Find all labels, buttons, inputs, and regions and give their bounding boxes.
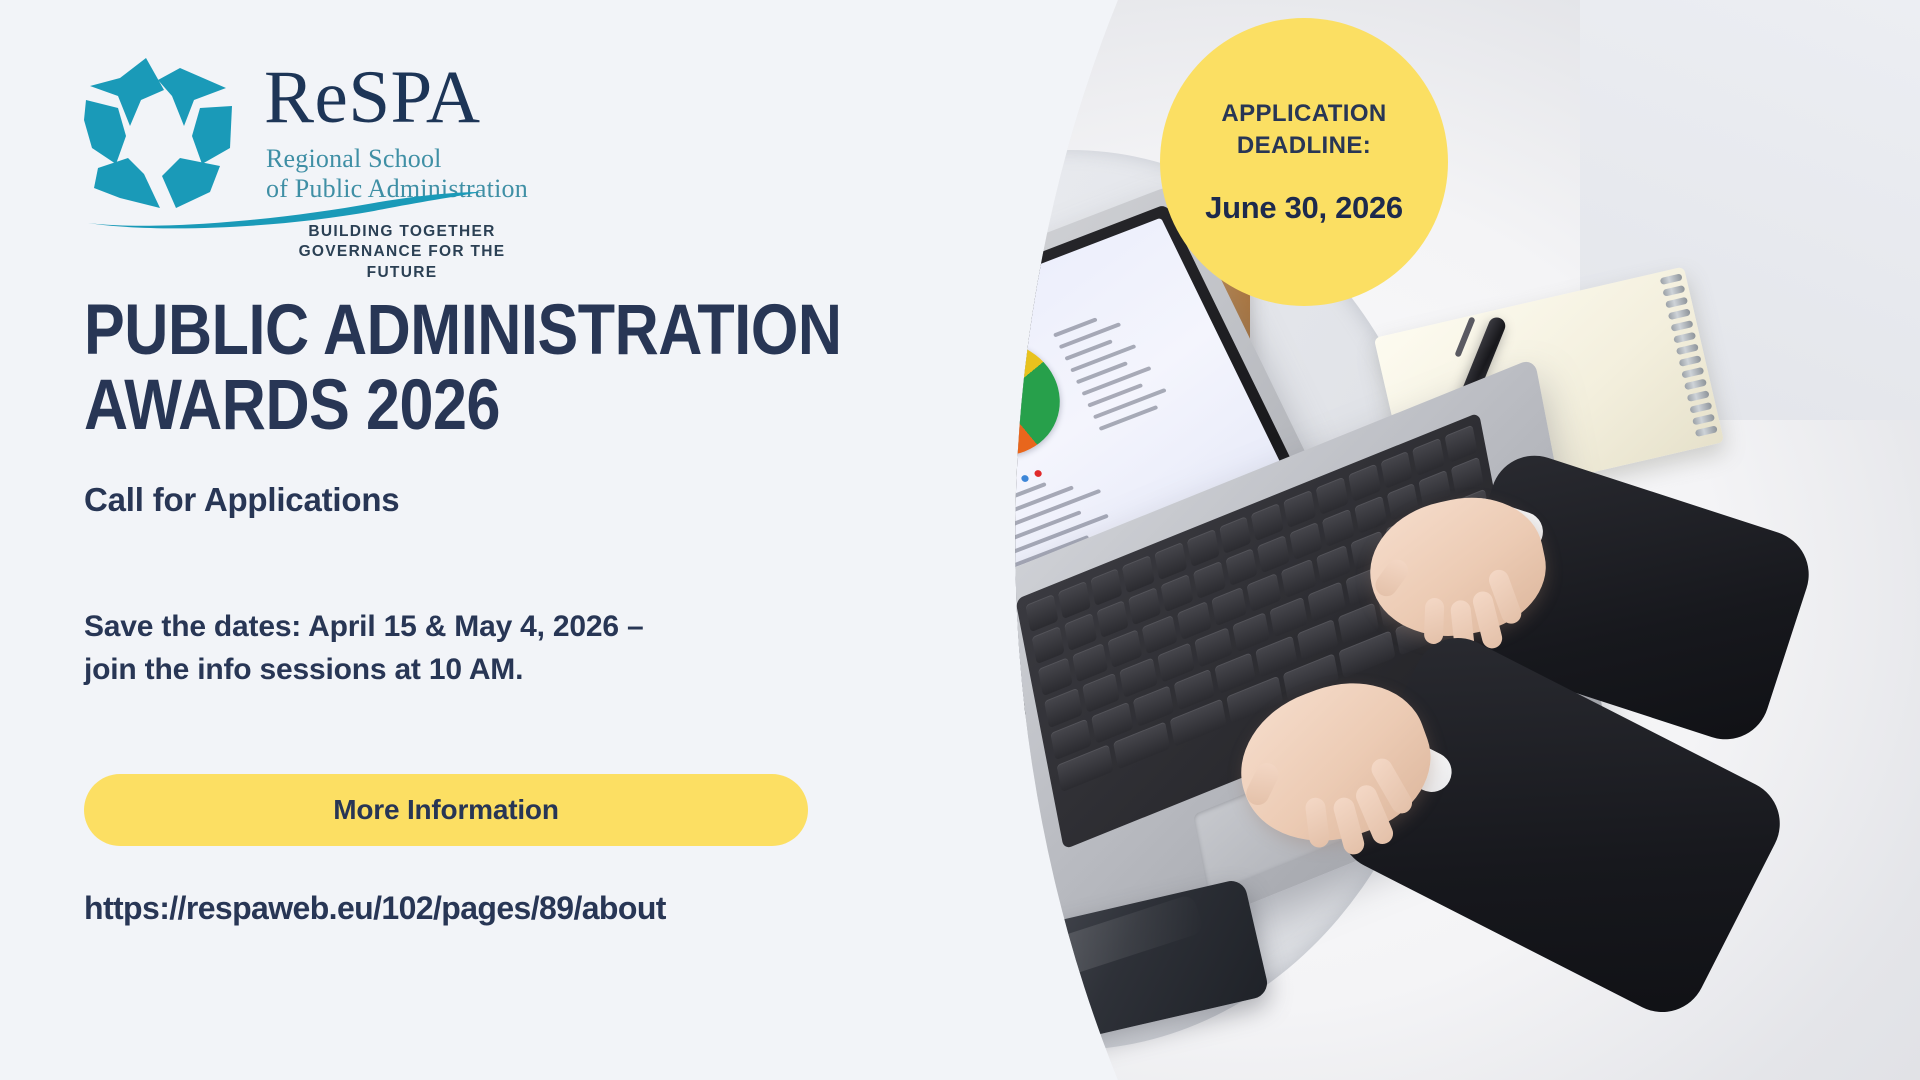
info-session-text: Save the dates: April 15 & May 4, 2026 –… [84, 605, 1160, 693]
finger [1242, 759, 1282, 809]
finger [1424, 598, 1445, 645]
deadline-date: June 30, 2026 [1205, 190, 1403, 226]
logo-wordmark: ReSPA [264, 60, 481, 135]
finger [1371, 555, 1412, 600]
content-column: ReSPA Regional School of Public Administ… [0, 0, 1160, 1080]
respa-logo: ReSPA Regional School of Public Administ… [84, 34, 554, 249]
page-title: PUBLIC ADMINISTRATION AWARDS 2026 [84, 293, 1009, 444]
application-deadline-badge: APPLICATION DEADLINE: June 30, 2026 [1160, 18, 1448, 306]
more-information-button[interactable]: More Information [84, 774, 808, 846]
deadline-label: APPLICATION DEADLINE: [1186, 98, 1422, 161]
page-subtitle: Call for Applications [84, 481, 1160, 519]
info-url[interactable]: https://respaweb.eu/102/pages/89/about [84, 890, 1160, 927]
logo-tagline: BUILDING TOGETHER GOVERNANCE FOR THE FUT… [266, 222, 538, 283]
respa-star-mark-icon [84, 56, 234, 211]
